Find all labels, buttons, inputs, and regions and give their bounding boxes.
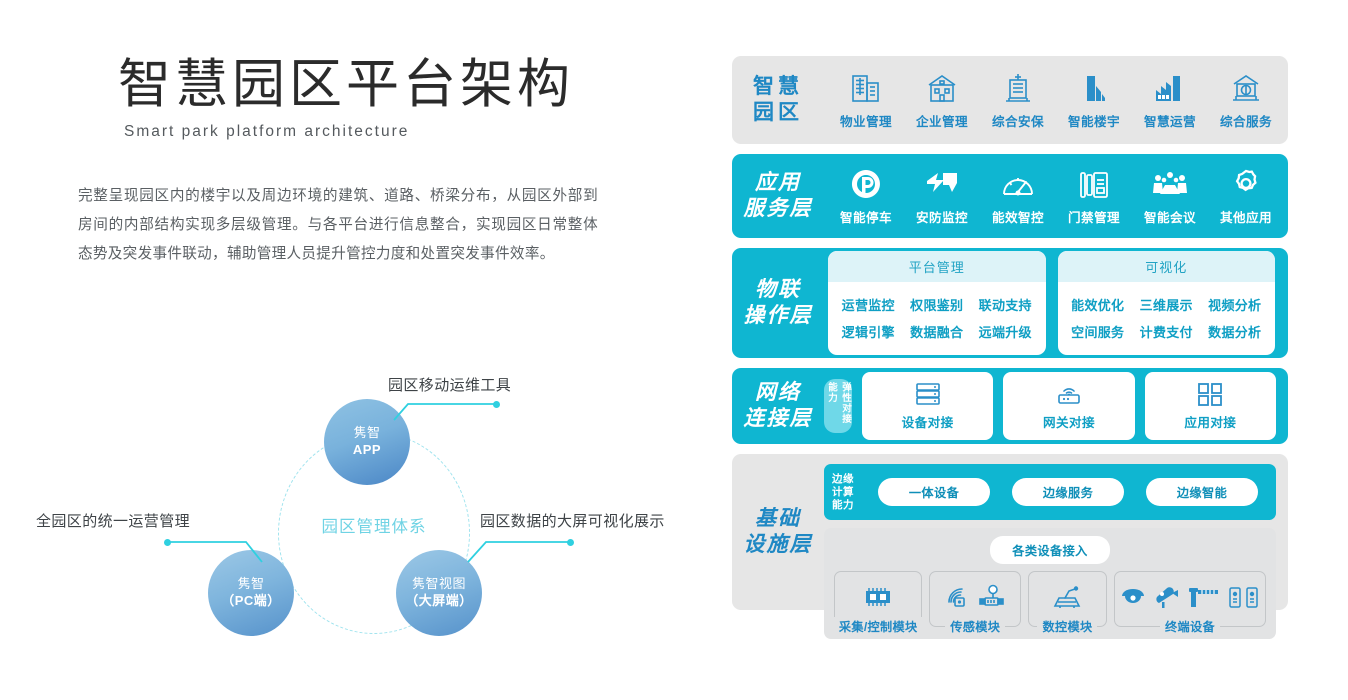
park-item-building-label: 智能楼宇	[1068, 111, 1120, 130]
app-item-meeting-label: 智能会议	[1144, 207, 1196, 226]
edge-label-line1: 边缘	[832, 473, 862, 486]
iot-card-visualization: 可视化 能效优化 三维展示 视频分析 空间服务 计费支付 数据分析	[1058, 251, 1276, 355]
edge-pill-intelligence[interactable]: 边缘智能	[1146, 478, 1258, 506]
layer-infrastructure-title-line2: 设施层	[744, 532, 813, 558]
bank-dollar-icon	[1229, 70, 1263, 104]
park-item-enterprise[interactable]: 企业管理	[904, 70, 980, 130]
app-item-surveillance[interactable]: 安防监控	[904, 166, 980, 226]
callout-app-label: 园区移动运维工具	[388, 374, 511, 395]
layer-infrastructure-body: 边缘 计算 能力 一体设备 边缘服务 边缘智能 各类设备接入	[824, 454, 1288, 610]
iot-item[interactable]: 远端升级	[971, 318, 1040, 345]
iot-card-platform: 平台管理 运营监控 权限鉴别 联动支持 逻辑引擎 数据融合 远端升级	[828, 251, 1046, 355]
app-item-parking[interactable]: 智能停车	[828, 166, 904, 226]
device-card-collection-control-label: 采集/控制模块	[834, 617, 923, 635]
net-card-application[interactable]: 应用对接	[1145, 372, 1276, 440]
iot-card-visualization-header: 可视化	[1058, 251, 1276, 282]
layer-network-title: 网络 连接层	[732, 368, 824, 444]
device-card-terminal[interactable]: 终端设备	[1114, 571, 1266, 627]
park-management-diagram: 园区管理体系 隽智 APP 隽智 （PC端） 隽智视图 （大屏端） 园区移动运维…	[20, 370, 700, 650]
iot-item[interactable]: 三维展示	[1132, 291, 1201, 318]
ring-label: 园区管理体系	[278, 513, 470, 537]
layer-network: 网络 连接层 弹性对接能力	[732, 368, 1288, 444]
app-item-other-label: 其他应用	[1220, 207, 1272, 226]
edge-label-line3: 能力	[832, 499, 862, 512]
park-item-security-label: 综合安保	[992, 111, 1044, 130]
layer-infrastructure: 基础 设施层 边缘 计算 能力 一体设备 边缘服务 边缘智能 各类设备接入	[732, 454, 1288, 610]
layer-network-body: 弹性对接能力 设备对接	[824, 368, 1288, 444]
dome-camera-icon	[1119, 585, 1147, 609]
device-card-numeric-control-label: 数控模块	[1038, 617, 1098, 635]
app-item-access-label: 门禁管理	[1068, 207, 1120, 226]
layer-iot-title-line2: 操作层	[744, 303, 813, 329]
architecture-stack: 智慧 园区	[732, 56, 1288, 620]
layer-smart-park-body: 物业管理 企业管理	[824, 56, 1288, 144]
layer-smart-park-title-line1: 智慧	[753, 74, 803, 100]
callout-pc-label: 全园区的统一运营管理	[36, 510, 190, 531]
iot-item[interactable]: 计费支付	[1132, 318, 1201, 345]
description-paragraph: 完整呈现园区内的楼宇以及周边环境的建筑、道路、桥梁分布，从园区外部到房间的内部结…	[78, 182, 598, 269]
gear-icon	[1230, 166, 1262, 200]
layer-app-service-title-line1: 应用	[755, 170, 801, 196]
iot-card-visualization-row1: 能效优化 三维展示 视频分析	[1064, 291, 1270, 318]
net-card-device[interactable]: 设备对接	[862, 372, 993, 440]
node-app-line1: 隽智	[353, 425, 380, 442]
node-pc-line1: 隽智	[237, 576, 264, 593]
page-title: 智慧园区平台架构	[118, 56, 574, 114]
layer-iot-body: 平台管理 运营监控 权限鉴别 联动支持 逻辑引擎 数据融合 远端升级	[824, 248, 1288, 358]
security-hospital-icon	[1001, 70, 1035, 104]
app-item-meeting[interactable]: 智能会议	[1132, 166, 1208, 226]
edge-pill-integrated[interactable]: 一体设备	[878, 478, 990, 506]
layer-app-service-body: 智能停车 安防监控	[824, 154, 1288, 238]
device-row: 采集/控制模块	[834, 571, 1266, 627]
app-item-parking-label: 智能停车	[840, 207, 892, 226]
gauge-meter-icon	[1001, 166, 1035, 200]
park-item-service[interactable]: 综合服务	[1208, 70, 1284, 130]
iot-item[interactable]: 数据分析	[1201, 318, 1270, 345]
callout-pc-dot	[164, 539, 171, 546]
device-card-sensor[interactable]: 传感模块	[929, 571, 1021, 627]
edge-computing-strip: 边缘 计算 能力 一体设备 边缘服务 边缘智能	[824, 464, 1276, 520]
park-item-security[interactable]: 综合安保	[980, 70, 1056, 130]
device-card-collection-control[interactable]: 采集/控制模块	[834, 571, 922, 627]
parking-p-icon	[850, 166, 882, 200]
numeric-control-icon	[1051, 584, 1083, 610]
elastic-docking-stripe: 弹性对接能力	[824, 379, 852, 433]
turnstile-icon	[1227, 585, 1261, 609]
iot-card-platform-header: 平台管理	[828, 251, 1046, 282]
layer-iot-title: 物联 操作层	[732, 248, 824, 358]
enterprise-house-icon	[925, 70, 959, 104]
office-building-icon	[849, 70, 883, 104]
node-view-line1: 隽智视图	[412, 576, 466, 593]
layer-app-service: 应用 服务层 智能停车	[732, 154, 1288, 238]
park-item-property-label: 物业管理	[840, 111, 892, 130]
layer-infrastructure-title: 基础 设施层	[732, 454, 824, 610]
page-root: 智慧园区平台架构 Smart park platform architectur…	[0, 0, 1348, 700]
layer-smart-park: 智慧 园区	[732, 56, 1288, 144]
app-item-surveillance-label: 安防监控	[916, 207, 968, 226]
app-item-access[interactable]: 门禁管理	[1056, 166, 1132, 226]
device-access-area: 各类设备接入	[824, 528, 1276, 639]
page-subtitle: Smart park platform architecture	[124, 123, 574, 141]
layer-smart-park-title-line2: 园区	[753, 100, 803, 126]
park-item-operation[interactable]: 智慧运营	[1132, 70, 1208, 130]
layer-app-service-title-line2: 服务层	[744, 196, 813, 222]
iot-card-platform-row2: 逻辑引擎 数据融合 远端升级	[834, 318, 1040, 345]
app-item-energy-label: 能效智控	[992, 207, 1044, 226]
iot-item[interactable]: 联动支持	[971, 291, 1040, 318]
app-item-energy[interactable]: 能效智控	[980, 166, 1056, 226]
iot-item[interactable]: 运营监控	[834, 291, 903, 318]
net-card-application-label: 应用对接	[1184, 412, 1236, 431]
iot-item[interactable]: 逻辑引擎	[834, 318, 903, 345]
device-card-terminal-label: 终端设备	[1160, 617, 1220, 635]
device-access-pill[interactable]: 各类设备接入	[990, 536, 1110, 564]
layer-infrastructure-title-line1: 基础	[755, 506, 801, 532]
edge-pill-service[interactable]: 边缘服务	[1012, 478, 1124, 506]
callout-view-label: 园区数据的大屏可视化展示	[480, 510, 665, 531]
iot-card-visualization-row2: 空间服务 计费支付 数据分析	[1064, 318, 1270, 345]
left-column: 智慧园区平台架构 Smart park platform architectur…	[0, 0, 710, 700]
callout-view-dot	[567, 539, 574, 546]
meeting-people-icon	[1152, 166, 1188, 200]
sensor-valve-icon	[977, 584, 1005, 610]
device-card-sensor-label: 传感模块	[945, 617, 1005, 635]
layer-network-title-line1: 网络	[755, 380, 801, 406]
device-card-numeric-control[interactable]: 数控模块	[1028, 571, 1107, 627]
iot-item[interactable]: 空间服务	[1064, 318, 1133, 345]
iot-item[interactable]: 视频分析	[1201, 291, 1270, 318]
layer-network-title-line2: 连接层	[744, 406, 813, 432]
factory-chart-icon	[1152, 70, 1188, 104]
park-item-building[interactable]: 智能楼宇	[1056, 70, 1132, 130]
park-item-operation-label: 智慧运营	[1144, 111, 1196, 130]
server-rack-icon	[914, 381, 942, 407]
layer-iot-title-line1: 物联	[755, 277, 801, 303]
park-item-enterprise-label: 企业管理	[916, 111, 968, 130]
title-block: 智慧园区平台架构 Smart park platform architectur…	[118, 56, 574, 141]
layer-app-service-title: 应用 服务层	[732, 154, 824, 238]
net-card-device-label: 设备对接	[902, 412, 954, 431]
node-app-line2: APP	[353, 442, 381, 459]
lightning-bolt-icon	[924, 166, 960, 200]
park-item-service-label: 综合服务	[1220, 111, 1272, 130]
net-card-gateway[interactable]: 网关对接	[1003, 372, 1134, 440]
node-view-line2: （大屏端）	[405, 593, 473, 610]
layer-smart-park-title: 智慧 园区	[732, 56, 824, 144]
iot-card-platform-row1: 运营监控 权限鉴别 联动支持	[834, 291, 1040, 318]
net-card-gateway-label: 网关对接	[1043, 412, 1095, 431]
iot-item[interactable]: 能效优化	[1064, 291, 1133, 318]
iot-item[interactable]: 数据融合	[903, 318, 972, 345]
access-panel-icon	[1078, 166, 1110, 200]
barrier-gate-icon	[1187, 585, 1221, 609]
app-grid-icon	[1196, 381, 1224, 407]
app-item-other[interactable]: 其他应用	[1208, 166, 1284, 226]
edge-label-line2: 计算	[832, 486, 862, 499]
edge-computing-label: 边缘 计算 能力	[832, 473, 862, 511]
layer-iot-operation: 物联 操作层 平台管理 运营监控 权限鉴别 联动支持 逻辑引擎 数据融合	[732, 248, 1288, 358]
bullet-camera-icon	[1153, 585, 1181, 609]
smart-tower-icon	[1077, 70, 1111, 104]
park-item-property[interactable]: 物业管理	[828, 70, 904, 130]
node-pc-line2: （PC端）	[221, 593, 281, 610]
wifi-router-icon	[1055, 381, 1083, 407]
sensor-wave-icon	[945, 584, 971, 610]
chip-module-icon	[861, 584, 895, 610]
iot-item[interactable]: 权限鉴别	[903, 291, 972, 318]
callout-app-dot	[493, 401, 500, 408]
